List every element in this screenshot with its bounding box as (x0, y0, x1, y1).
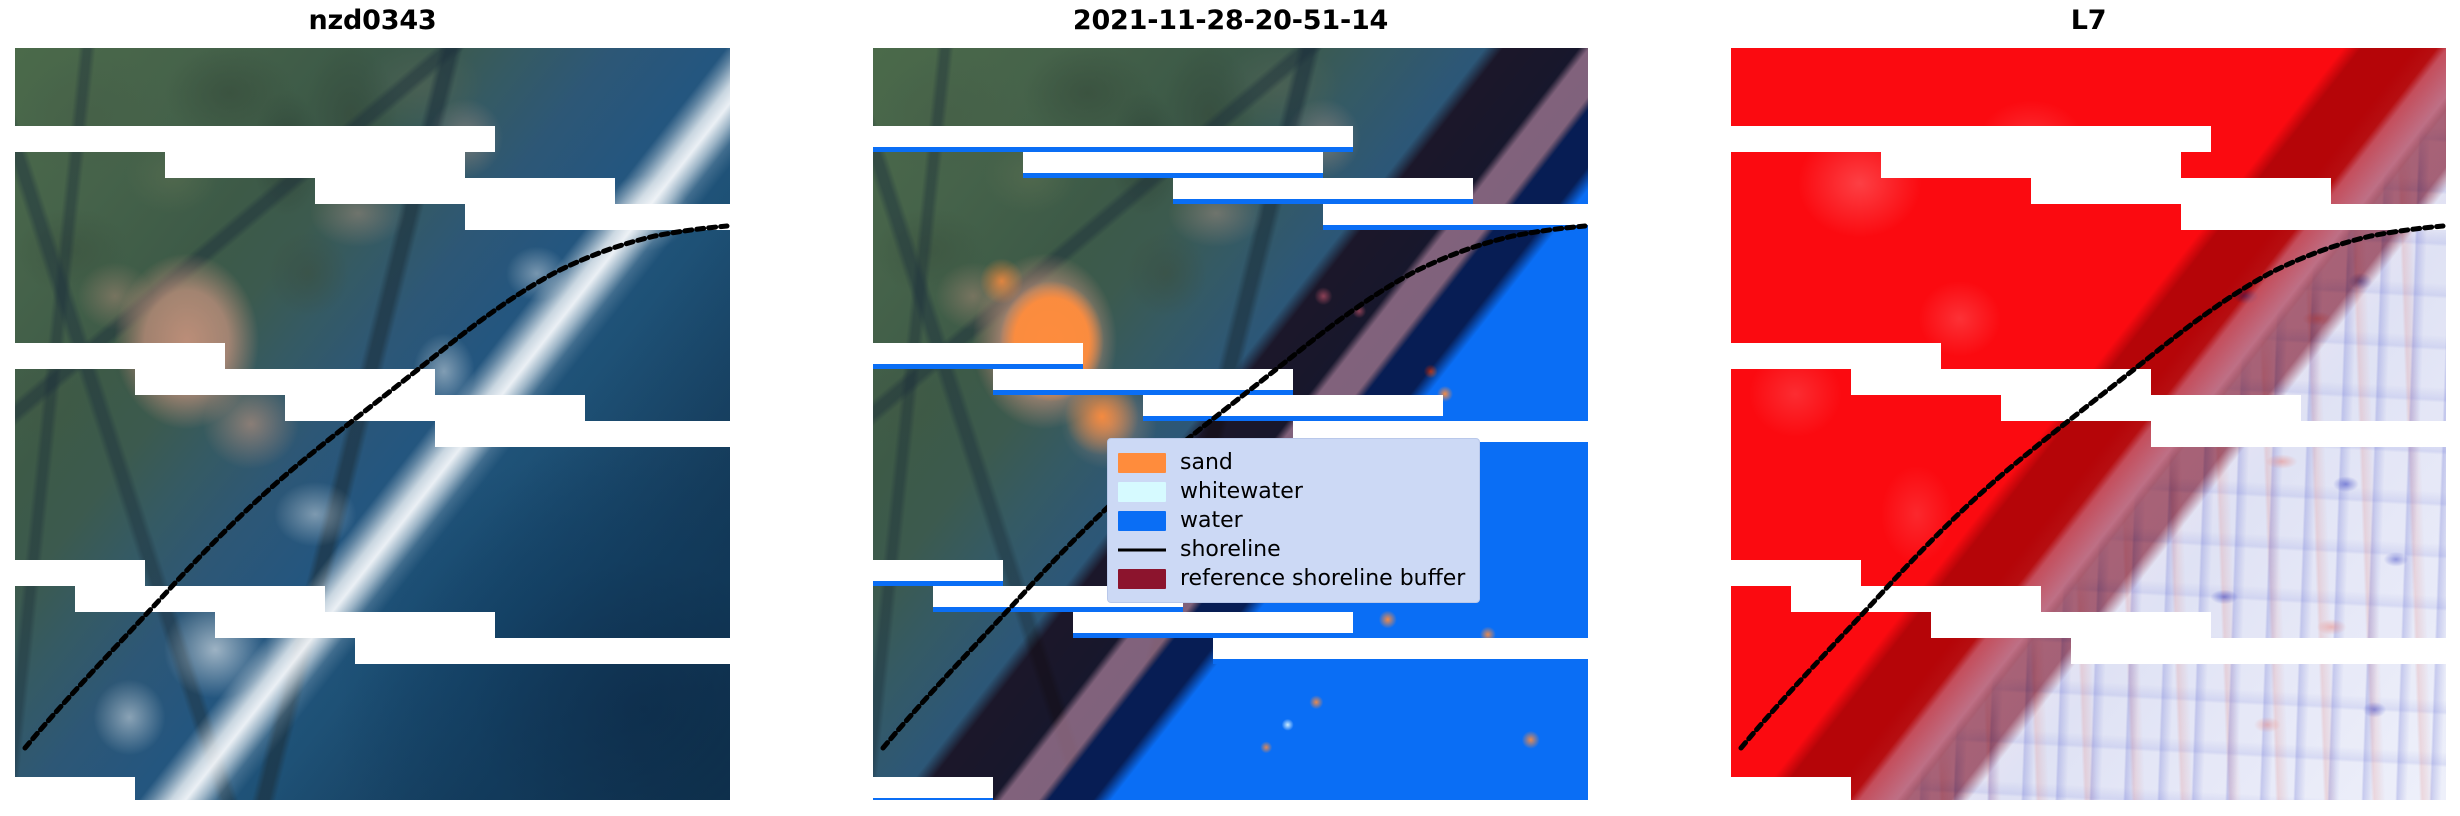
panel-rgb-axes[interactable] (15, 48, 730, 800)
legend-item-buffer: reference shoreline buffer (1118, 564, 1465, 593)
legend-label-whitewater: whitewater (1180, 481, 1303, 503)
panel-index: L7 (1716, 0, 2460, 816)
legend-label-water: water (1180, 510, 1243, 532)
legend-label-sand: sand (1180, 452, 1233, 474)
panel-index-image (1731, 48, 2446, 800)
panel-classification: 2021-11-28-20-51-14 (858, 0, 1603, 816)
shoreline-path (1741, 226, 2443, 748)
panel-classification-axes[interactable]: sand whitewater water shoreline (873, 48, 1588, 800)
legend-item-whitewater: whitewater (1118, 477, 1465, 506)
legend-item-sand: sand (1118, 448, 1465, 477)
classification-legend: sand whitewater water shoreline (1107, 438, 1480, 603)
legend-label-buffer: reference shoreline buffer (1180, 568, 1465, 590)
sand-swatch (1118, 453, 1166, 473)
panel-index-title: L7 (1716, 4, 2460, 38)
index-shoreline-overlay (1731, 48, 2446, 800)
legend-label-shoreline: shoreline (1180, 539, 1281, 561)
panel-rgb-title: nzd0343 (0, 4, 745, 38)
panel-classification-title: 2021-11-28-20-51-14 (858, 4, 1603, 38)
panel-index-axes[interactable] (1731, 48, 2446, 800)
legend-item-water: water (1118, 506, 1465, 535)
panel-classification-image: sand whitewater water shoreline (873, 48, 1588, 800)
water-swatch (1118, 511, 1166, 531)
shoreline-path (25, 226, 727, 748)
buffer-swatch (1118, 569, 1166, 589)
rgb-shoreline-overlay (15, 48, 730, 800)
panel-rgb-image (15, 48, 730, 800)
whitewater-swatch (1118, 482, 1166, 502)
class-shoreline-overlay (873, 48, 1588, 800)
shoreline-line-swatch (1118, 540, 1166, 560)
legend-item-shoreline: shoreline (1118, 535, 1465, 564)
figure-canvas: nzd0343 (0, 0, 2460, 816)
panel-rgb: nzd0343 (0, 0, 745, 816)
